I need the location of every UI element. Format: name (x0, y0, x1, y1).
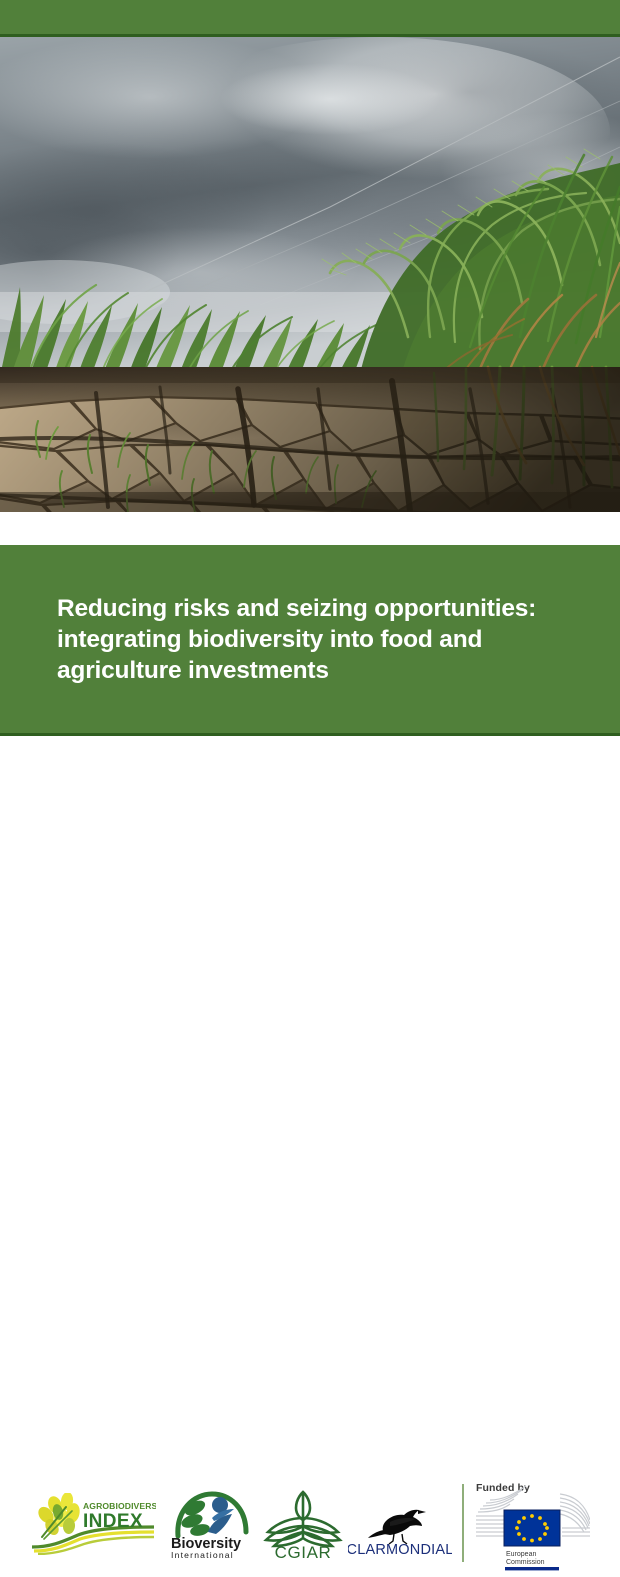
title-line-1: Reducing risks and seizing opportunities… (57, 593, 582, 624)
eu-line-1-text: European (506, 1551, 536, 1558)
abdi-line-1-text: AGROBIODIVERSITY (83, 1501, 156, 1511)
logo-clarmondial: CLARMONDIAL (348, 1500, 452, 1556)
abdi-line-2-text: INDEX (83, 1511, 143, 1532)
cover-photo-illustration (0, 37, 620, 512)
title-block: Reducing risks and seizing opportunities… (0, 545, 620, 733)
title-line-2: integrating biodiversity into food and (57, 624, 582, 655)
title-line-3: agriculture investments (57, 655, 582, 686)
report-cover: Reducing risks and seizing opportunities… (0, 0, 620, 877)
bioversity-line-2-text: International (171, 1550, 234, 1560)
eu-line-2-text: Commission (506, 1559, 545, 1566)
cgiar-mark: CGIAR (258, 1488, 348, 1560)
page-title: Reducing risks and seizing opportunities… (57, 593, 582, 686)
logo-bioversity-international: Bioversity International (168, 1488, 254, 1560)
logo-european-commission: European Commission (474, 1480, 590, 1572)
cgiar-line-1-text: CGIAR (275, 1543, 332, 1560)
european-commission-mark: European Commission (474, 1480, 590, 1572)
clarmondial-mark: CLARMONDIAL (348, 1500, 452, 1556)
bioversity-mark: Bioversity International (168, 1488, 254, 1560)
top-green-band (0, 0, 620, 34)
clarmondial-line-1-text: CLARMONDIAL (348, 1542, 452, 1556)
logo-agrobiodiversity-index: AGROBIODIVERSITY INDEX (28, 1493, 156, 1555)
funded-by-divider (462, 1484, 464, 1562)
logo-strip: AGROBIODIVERSITY INDEX Bioversi (0, 736, 620, 877)
agrobiodiversity-index-mark: AGROBIODIVERSITY INDEX (28, 1493, 156, 1555)
cover-photograph (0, 37, 620, 512)
logo-cgiar: CGIAR (258, 1488, 348, 1560)
